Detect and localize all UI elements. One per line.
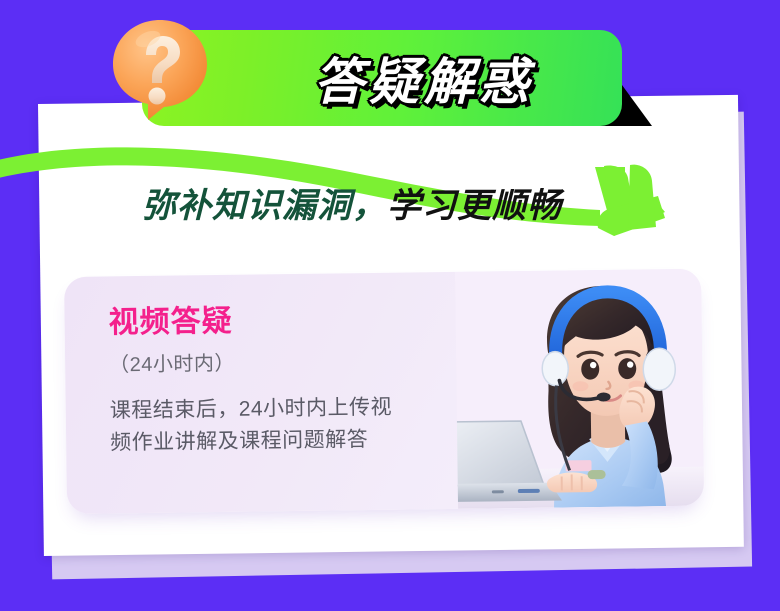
- support-agent-illustration: [455, 269, 704, 509]
- panel-body: 课程结束后，24小时内上传视 频作业讲解及课程问题解答: [110, 390, 511, 459]
- header-banner: 答疑解惑: [142, 30, 622, 126]
- poster-canvas: 答疑解惑: [0, 0, 780, 611]
- subtitle: 弥补知识漏洞，学习更顺畅: [142, 178, 562, 227]
- panel-text-block: 视频答疑 （24小时内） 课程结束后，24小时内上传视 频作业讲解及课程问题解答: [108, 301, 510, 459]
- banner-title: 答疑解惑: [142, 30, 622, 126]
- subtitle-rest: 学习更顺畅: [387, 187, 562, 225]
- question-mark-speech-bubble-icon: [108, 17, 212, 121]
- subtitle-lead: 弥补知识漏洞，: [142, 187, 387, 225]
- panel-body-line-2: 频作业讲解及课程问题解答: [110, 422, 510, 459]
- panel-body-line-1: 课程结束后，24小时内上传视: [110, 390, 510, 427]
- panel-heading: 视频答疑: [108, 301, 508, 339]
- video-qa-panel: 视频答疑 （24小时内） 课程结束后，24小时内上传视 频作业讲解及课程问题解答: [64, 269, 704, 514]
- panel-subheading: （24小时内）: [109, 343, 509, 377]
